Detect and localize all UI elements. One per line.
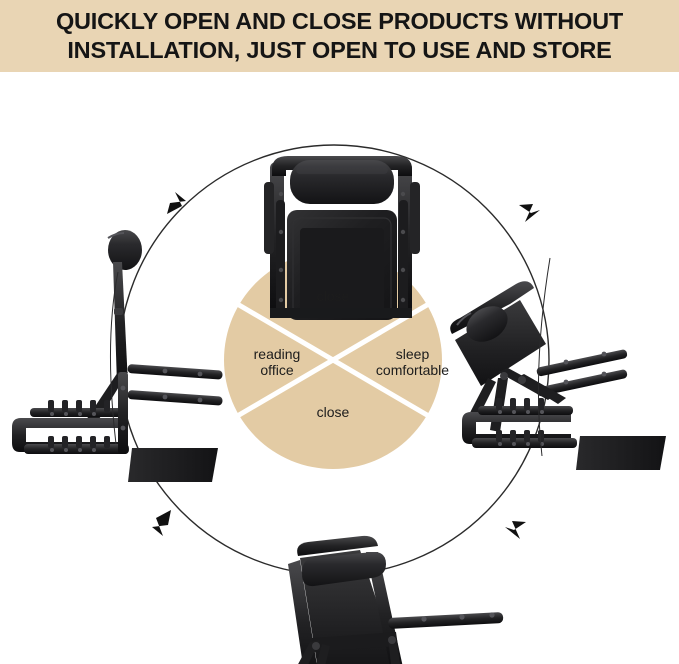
product-right-reclined-side <box>450 258 666 470</box>
ring-arrow-bottom-left <box>152 510 171 536</box>
wheel-label-right-line2: comfortable <box>355 362 470 378</box>
product-left-upright-side <box>12 230 223 482</box>
wheel-label-right-line1: sleep <box>355 346 470 362</box>
wheel-label-top-text: close <box>317 288 350 304</box>
wheel-label-top: close <box>233 288 433 304</box>
headline-line-1: QUICKLY OPEN AND CLOSE PRODUCTS WITHOUT <box>56 7 623 36</box>
wheel-label-left: reading office <box>222 346 332 378</box>
ring-arrow-bottom-right <box>505 521 526 539</box>
wheel-label-left-line2: office <box>222 362 332 378</box>
wheel-label-bottom-text: close <box>317 404 350 420</box>
wheel-label-left-line1: reading <box>222 346 332 362</box>
product-bottom-upright-angled <box>260 536 503 664</box>
wheel-label-bottom: close <box>233 404 433 420</box>
ring-arrow-top-right <box>519 204 540 222</box>
cycle-diagram <box>0 72 679 664</box>
infographic-root: QUICKLY OPEN AND CLOSE PRODUCTS WITHOUT … <box>0 0 679 664</box>
wheel-label-right: sleep comfortable <box>355 346 470 378</box>
ring-arrow-top-left <box>167 192 186 214</box>
headline-line-2: INSTALLATION, JUST OPEN TO USE AND STORE <box>67 36 611 65</box>
header-banner: QUICKLY OPEN AND CLOSE PRODUCTS WITHOUT … <box>0 0 679 72</box>
